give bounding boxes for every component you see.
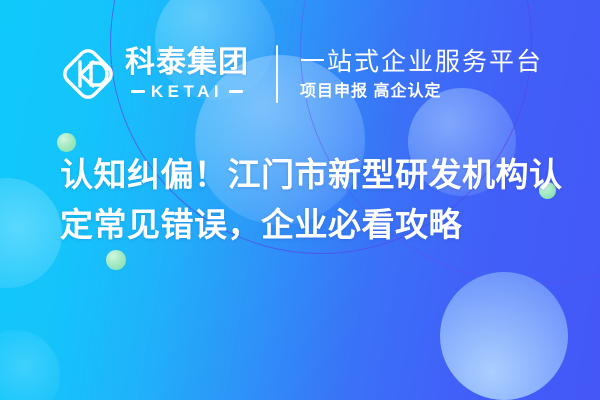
promo-banner: 科泰集团 KETAI 一站式企业服务平台 项目申报 高企认定 认知纠偏！江门市新… [0,0,600,400]
brand-name-en-row: KETAI [131,83,243,100]
soft-circle-e [0,178,62,288]
soft-circle-f [0,330,60,400]
tagline-block: 一站式企业服务平台 项目申报 高企认定 [300,48,543,101]
tagline-primary: 一站式企业服务平台 [300,48,543,76]
brand-lockup[interactable]: 科泰集团 KETAI [60,46,249,102]
headline-line-1: 认知纠偏！江门市新型研发机构认 [60,150,560,200]
vertical-divider [276,45,278,103]
dash-left-icon [131,90,145,93]
headline: 认知纠偏！江门市新型研发机构认 定常见错误，企业必看攻略 [60,150,560,250]
headline-line-2: 定常见错误，企业必看攻略 [60,200,560,250]
brand-name-cn: 科泰集团 [125,48,249,78]
tagline-secondary: 项目申报 高企认定 [300,83,543,101]
brand-wordmark: 科泰集团 KETAI [125,48,249,100]
dash-right-icon [229,90,243,93]
brand-name-en: KETAI [151,83,223,100]
soft-circle-d [440,272,568,400]
green-dot-2 [106,250,126,270]
ketai-logo-icon [60,46,116,102]
banner-header: 科泰集团 KETAI 一站式企业服务平台 项目申报 高企认定 [0,38,600,110]
